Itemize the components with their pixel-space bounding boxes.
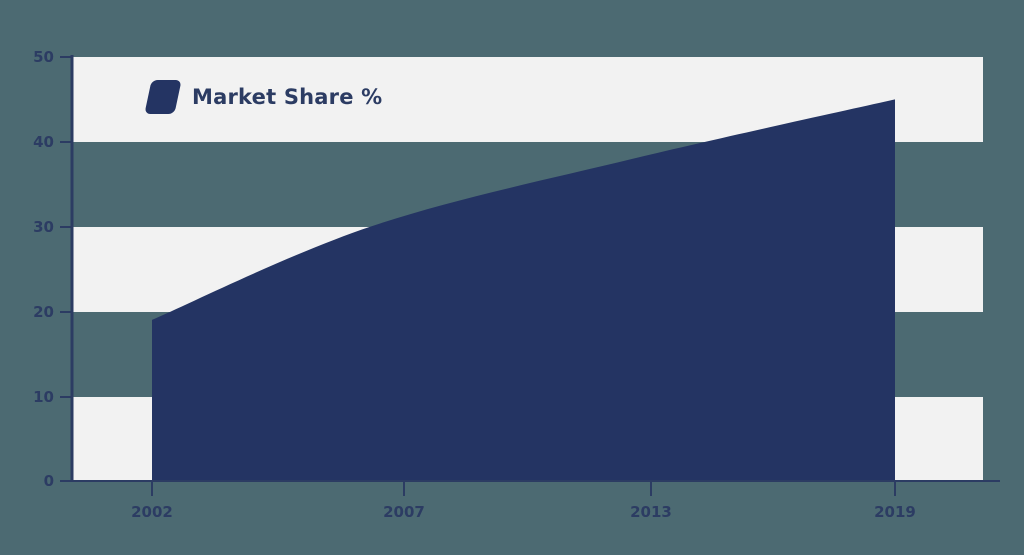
area-path xyxy=(152,99,895,481)
y-tick-label-20: 20 xyxy=(33,303,54,321)
y-tick-label-40: 40 xyxy=(33,133,54,151)
x-tick-label-2007: 2007 xyxy=(383,503,425,521)
series-market-share xyxy=(152,99,895,481)
legend-label-market-share: Market Share % xyxy=(192,85,382,109)
y-tick-label-50: 50 xyxy=(33,48,54,66)
y-tick-label-30: 30 xyxy=(33,218,54,236)
x-tick-label-2013: 2013 xyxy=(630,503,672,521)
x-tick-label-2002: 2002 xyxy=(131,503,173,521)
y-tick-label-0: 0 xyxy=(44,472,54,490)
chart-legend[interactable]: Market Share % xyxy=(148,80,382,114)
y-tick-label-10: 10 xyxy=(33,388,54,406)
legend-swatch-market-share xyxy=(144,80,181,114)
area-chart: 50 40 30 20 10 0 2002 2007 2013 2019 xyxy=(0,0,1024,555)
x-axis-ticks: 2002 2007 2013 2019 xyxy=(131,481,916,521)
y-axis-ticks: 50 40 30 20 10 0 xyxy=(33,48,72,490)
x-tick-label-2019: 2019 xyxy=(874,503,916,521)
